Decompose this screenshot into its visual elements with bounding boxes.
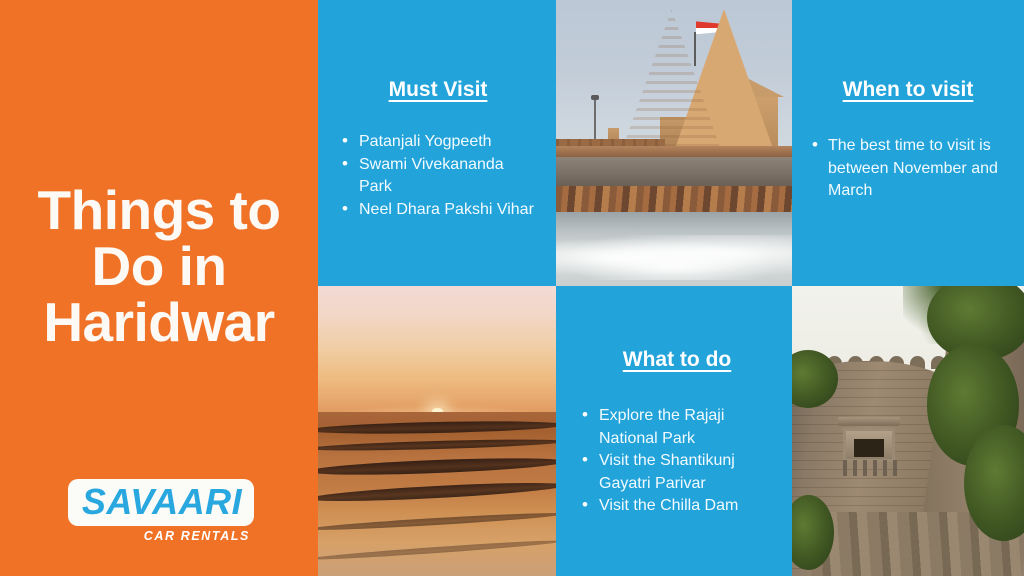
fort-photo [792, 286, 1024, 576]
title-line-2: Do in [0, 238, 318, 294]
logo-wordmark: SAVAARI [80, 483, 244, 521]
page-title: Things to Do in Haridwar [0, 182, 318, 350]
what-to-do-heading: What to do [582, 348, 772, 372]
when-to-visit-heading: When to visit [812, 78, 1004, 102]
savaari-logo[interactable]: SAVAARI CAR RENTALS [68, 479, 254, 543]
fort-photo-art [792, 286, 1024, 576]
what-to-do-content: What to do Explore the Rajaji National P… [556, 286, 792, 576]
list-item: Visit the Shantikunj Gayatri Parivar [582, 450, 772, 495]
list-item: Patanjali Yogpeeth [342, 131, 534, 154]
logo-tagline: CAR RENTALS [68, 529, 254, 543]
temple-plinth [556, 146, 792, 157]
balcony-roof [838, 417, 900, 426]
panel-when-to-visit: When to visit The best time to visit is … [792, 0, 1024, 286]
when-to-visit-list: The best time to visit is between Novemb… [812, 135, 1004, 203]
sea-foam [556, 235, 792, 281]
must-visit-content: Must Visit Patanjali Yogpeeth Swami Vive… [318, 0, 556, 286]
panel-must-visit: Must Visit Patanjali Yogpeeth Swami Vive… [318, 0, 556, 286]
list-item: The best time to visit is between Novemb… [812, 135, 1004, 203]
sunset-photo-art [318, 286, 556, 576]
balcony-brackets [843, 460, 897, 476]
list-item: Visit the Chilla Dam [582, 495, 772, 518]
list-item: Swami Vivekananda Park [342, 154, 534, 199]
must-visit-list: Patanjali Yogpeeth Swami Vivekananda Par… [342, 131, 534, 221]
list-item: Neel Dhara Pakshi Vihar [342, 199, 534, 222]
sunset-photo [318, 286, 556, 576]
logo-box: SAVAARI [68, 479, 254, 526]
infographic-slide: Things to Do in Haridwar SAVAARI CAR REN… [0, 0, 1024, 576]
when-to-visit-content: When to visit The best time to visit is … [792, 0, 1024, 286]
title-line-3: Haridwar [0, 294, 318, 350]
temple-photo [556, 0, 792, 286]
seawall [556, 157, 792, 186]
temple-photo-art [556, 0, 792, 286]
list-item: Explore the Rajaji National Park [582, 405, 772, 450]
panel-what-to-do: What to do Explore the Rajaji National P… [556, 286, 792, 576]
balcony-window [843, 428, 895, 462]
title-line-1: Things to [0, 182, 318, 238]
title-panel: Things to Do in Haridwar SAVAARI CAR REN… [0, 0, 318, 576]
what-to-do-list: Explore the Rajaji National Park Visit t… [582, 405, 772, 518]
lamppost [594, 99, 596, 143]
must-visit-heading: Must Visit [342, 78, 534, 102]
sunset-sky [318, 286, 556, 414]
